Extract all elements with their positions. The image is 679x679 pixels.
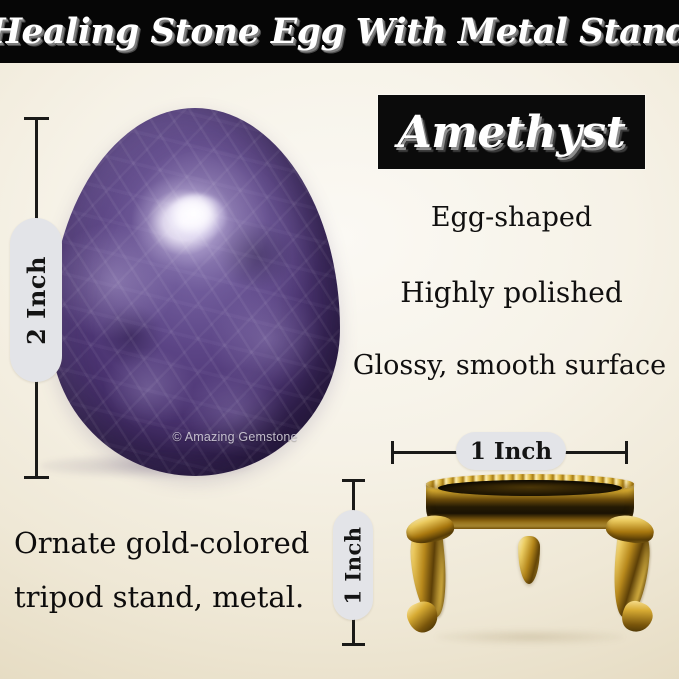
stand-width-measure-cap-left <box>391 441 394 464</box>
stone-name-text: Amethyst <box>398 107 626 158</box>
stand-center-pendant <box>518 536 540 584</box>
egg-height-measure-cap-bottom <box>24 476 49 479</box>
stand-width-measure-cap-right <box>625 441 628 464</box>
feature-line-2: Glossy, smooth surface <box>340 350 679 381</box>
stand-width-label-text: 1 Inch <box>470 438 552 465</box>
stand-height-label-text: 1 Inch <box>341 526 366 604</box>
amethyst-egg-image <box>50 108 340 476</box>
stand-height-measure-cap-bottom <box>342 643 365 646</box>
egg-height-label-text: 2 Inch <box>22 256 51 345</box>
stand-knuckle-right <box>604 512 656 546</box>
stand-description-line-0: Ornate gold-colored <box>14 516 336 570</box>
stand-drop-shadow <box>436 630 624 644</box>
feature-line-0: Egg-shaped <box>378 202 645 233</box>
gold-tripod-stand-image <box>412 470 648 648</box>
title-banner: Healing Stone Egg With Metal Stand <box>0 0 679 63</box>
stand-height-measure-cap-top <box>342 479 365 482</box>
banner-title: Healing Stone Egg With Metal Stand <box>0 11 679 52</box>
stand-description: Ornate gold-colored tripod stand, metal. <box>14 516 336 624</box>
watermark-text: © Amazing Gemstone <box>155 430 315 444</box>
stand-bowl-interior <box>438 480 622 496</box>
stand-height-label: 1 Inch <box>333 510 373 620</box>
product-infographic: Healing Stone Egg With Metal Stand © Ama… <box>0 0 679 679</box>
egg-drop-shadow <box>40 455 252 477</box>
egg-height-label: 2 Inch <box>10 218 62 382</box>
egg-height-measure-cap-top <box>24 117 49 120</box>
stand-width-label: 1 Inch <box>456 432 566 470</box>
feature-line-1: Highly polished <box>368 276 655 309</box>
stand-knuckle-left <box>404 512 456 546</box>
stand-description-line-1: tripod stand, metal. <box>14 570 336 624</box>
stone-name-badge: Amethyst <box>378 95 645 169</box>
egg-body <box>50 108 340 476</box>
